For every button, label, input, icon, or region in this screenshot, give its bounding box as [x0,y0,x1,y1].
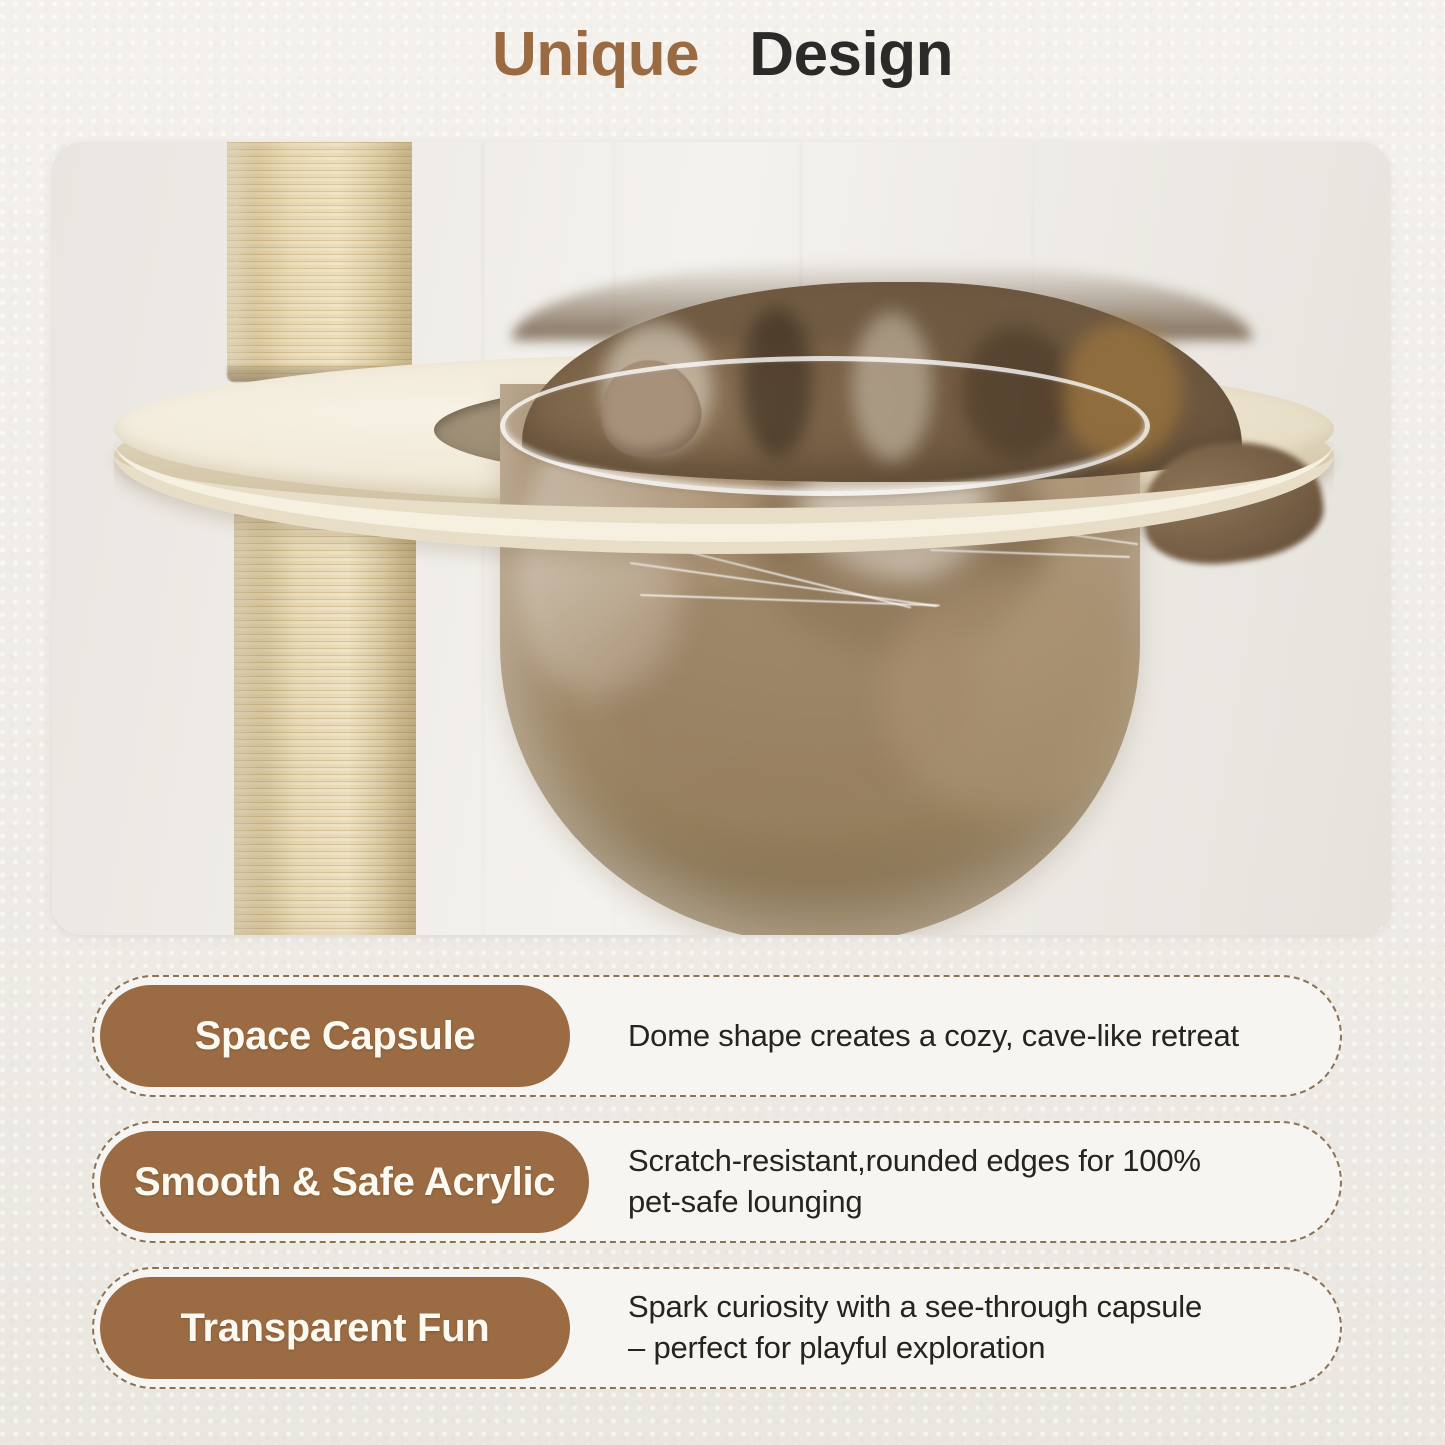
cat-fur-mass [880,574,1140,814]
feature-label-text: Transparent Fun [181,1306,490,1351]
sisal-rope-post-top [227,142,412,382]
feature-description-line: Scratch-resistant,rounded edges for 100% [628,1141,1201,1182]
feature-label-text: Smooth & Safe Acrylic [134,1160,555,1205]
acrylic-dome-rim [500,356,1150,496]
feature-list: Space Capsule Dome shape creates a cozy,… [0,975,1445,1413]
feature-description-line: Spark curiosity with a see-through capsu… [628,1287,1202,1328]
feature-row: Smooth & Safe Acrylic Scratch-resistant,… [0,1121,1445,1243]
page-title-space [716,20,733,89]
hero-image-card [52,142,1390,935]
feature-description: Spark curiosity with a see-through capsu… [628,1267,1318,1389]
feature-description: Dome shape creates a cozy, cave-like ret… [628,975,1318,1097]
page-title: Unique Design [0,16,1445,94]
feature-description-line: – perfect for playful exploration [628,1328,1202,1369]
page-title-rest: Design [749,20,953,89]
feature-label-pill[interactable]: Smooth & Safe Acrylic [100,1131,589,1233]
feature-description-line: Dome shape creates a cozy, cave-like ret… [628,1016,1239,1057]
feature-label-pill[interactable]: Space Capsule [100,985,570,1087]
feature-row: Space Capsule Dome shape creates a cozy,… [0,975,1445,1097]
page-title-accent: Unique [492,20,699,89]
sisal-rope-post-bottom [234,512,416,935]
feature-description: Scratch-resistant,rounded edges for 100%… [628,1121,1318,1243]
feature-row: Transparent Fun Spark curiosity with a s… [0,1267,1445,1389]
feature-label-text: Space Capsule [195,1014,476,1059]
feature-description-line: pet-safe lounging [628,1182,1201,1223]
feature-label-pill[interactable]: Transparent Fun [100,1277,570,1379]
